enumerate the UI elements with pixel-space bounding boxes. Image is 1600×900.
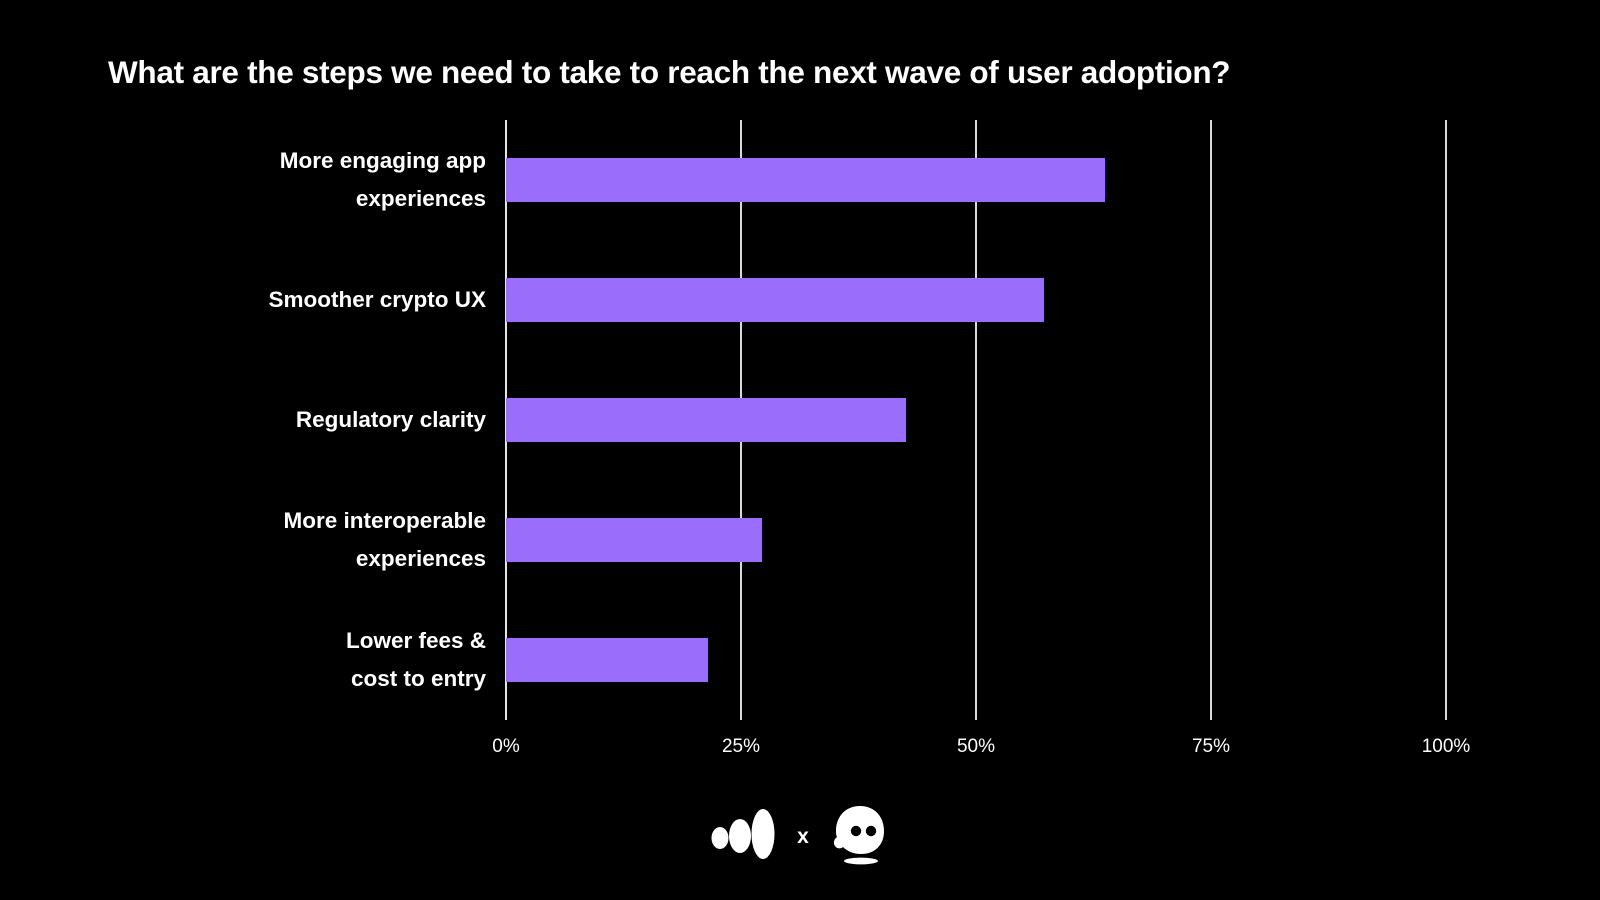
category-label: Regulatory clarity <box>120 401 486 439</box>
footer-logos: x <box>0 795 1600 875</box>
category-axis-labels: More engaging appexperiencesSmoother cry… <box>120 120 486 720</box>
logo-separator-x: x <box>797 826 809 847</box>
ghost-blob-logo <box>831 804 889 866</box>
category-label: Lower fees &cost to entry <box>120 622 486 698</box>
bar <box>506 638 708 682</box>
x-tick-label: 25% <box>722 736 760 758</box>
bar <box>506 158 1105 202</box>
bar <box>506 278 1044 322</box>
bar <box>506 398 906 442</box>
bar <box>506 518 762 562</box>
coinbase-wave-logo <box>711 806 775 864</box>
chart-plot-area: More engaging appexperiencesSmoother cry… <box>0 0 1600 900</box>
x-tick-label: 50% <box>957 736 995 758</box>
chart-page: What are the steps we need to take to re… <box>0 0 1600 900</box>
category-label: Smoother crypto UX <box>120 281 486 319</box>
category-label: More interoperableexperiences <box>120 502 486 578</box>
bar-series <box>506 120 1446 720</box>
category-label: More engaging appexperiences <box>120 142 486 218</box>
x-tick-label: 0% <box>492 736 519 758</box>
x-tick-label: 75% <box>1192 736 1230 758</box>
x-tick-label: 100% <box>1422 736 1471 758</box>
